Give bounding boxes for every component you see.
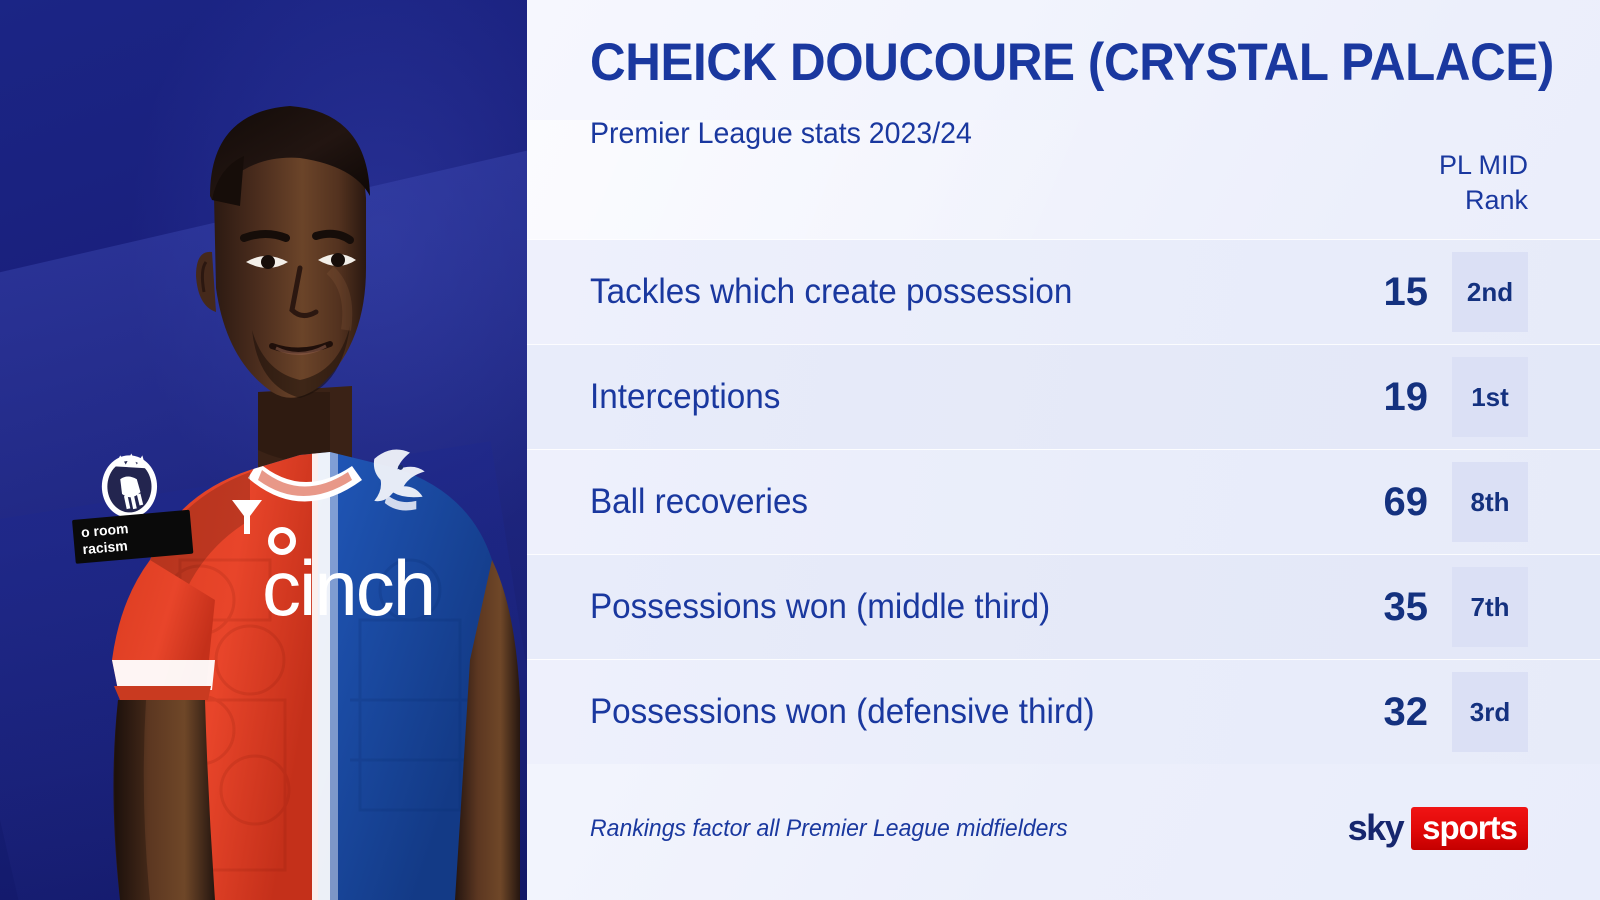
player-photo-panel: o room racism cinch (0, 0, 527, 900)
sky-wordmark: sky (1348, 810, 1412, 846)
rank-value: 2nd (1467, 278, 1513, 306)
table-row: Possessions won (defensive third) 32 3rd (527, 659, 1600, 764)
sports-wordmark: sports (1411, 807, 1528, 850)
rank-badge: 8th (1452, 462, 1528, 542)
stat-value: 32 (1384, 690, 1429, 734)
table-row: Ball recoveries 69 8th (527, 449, 1600, 554)
stat-value: 69 (1384, 480, 1429, 524)
rank-badge: 7th (1452, 567, 1528, 647)
svg-text:cinch: cinch (262, 544, 434, 632)
stat-value: 15 (1384, 270, 1429, 314)
stat-label: Possessions won (defensive third) (590, 691, 1095, 733)
rank-value: 1st (1471, 383, 1509, 411)
cinch-sponsor-logo: cinch (262, 530, 434, 632)
table-row: Tackles which create possession 15 2nd (527, 239, 1600, 344)
table-row: Interceptions 19 1st (527, 344, 1600, 449)
rank-column-header: PL MID Rank (1288, 148, 1528, 218)
rank-value: 3rd (1470, 698, 1510, 726)
table-row: Possessions won (middle third) 35 7th (527, 554, 1600, 659)
player-head (196, 106, 370, 398)
player-illustration: o room racism cinch (0, 0, 527, 900)
rank-column-header-line1: PL MID (1288, 148, 1528, 183)
rank-value: 8th (1471, 488, 1510, 516)
rank-badge: 1st (1452, 357, 1528, 437)
rank-value: 7th (1471, 593, 1510, 621)
stat-label: Interceptions (590, 376, 780, 418)
premier-league-lion-icon (102, 454, 157, 518)
sky-sports-logo: sky sports (1348, 806, 1528, 850)
page-subtitle: Premier League stats 2023/24 (590, 116, 972, 152)
stat-label: Ball recoveries (590, 481, 808, 523)
stats-table: Tackles which create possession 15 2nd I… (527, 239, 1600, 764)
stats-panel: CHEICK DOUCOURE (CRYSTAL PALACE) Premier… (527, 0, 1600, 900)
rank-badge: 3rd (1452, 672, 1528, 752)
page-title: CHEICK DOUCOURE (CRYSTAL PALACE) (590, 32, 1483, 94)
stat-label: Tackles which create possession (590, 271, 1072, 313)
stat-value: 19 (1384, 375, 1429, 419)
rank-column-header-line2: Rank (1288, 183, 1528, 218)
footnote: Rankings factor all Premier League midfi… (590, 814, 1068, 844)
stat-value: 35 (1384, 585, 1429, 629)
infographic: o room racism cinch (0, 0, 1600, 900)
stat-label: Possessions won (middle third) (590, 586, 1050, 628)
rank-badge: 2nd (1452, 252, 1528, 332)
